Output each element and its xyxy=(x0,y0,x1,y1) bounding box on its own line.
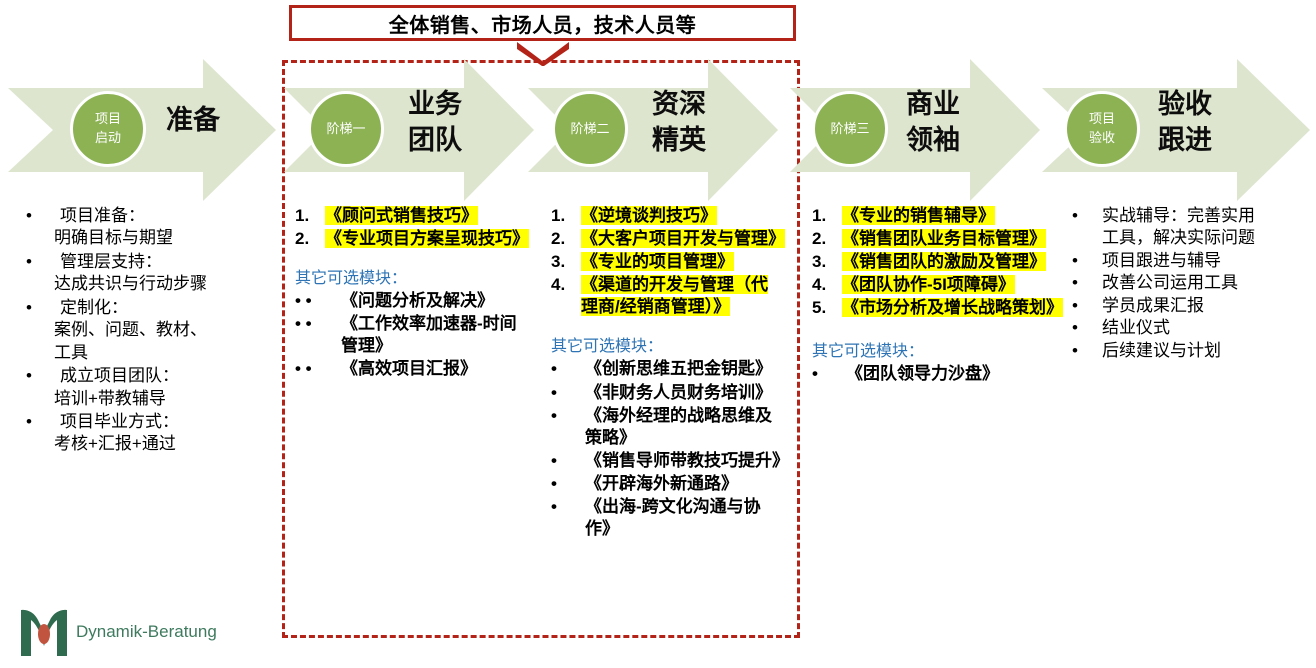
bullet-icon: • xyxy=(1072,295,1102,317)
audience-banner: 全体销售、市场人员，技术人员等 xyxy=(289,5,796,41)
stage-label-line2: 精英 xyxy=(652,123,706,159)
bullet-icon: • • xyxy=(295,290,341,312)
highlight: 《专业的项目管理》 xyxy=(581,252,734,271)
stage-arrow-band: 项目 启动 准备 阶梯一 业务 团队 xyxy=(0,55,1316,205)
list-item-text: 《大客户项目开发与管理》 xyxy=(581,228,781,250)
list-item: 2. 《销售团队业务目标管理》 xyxy=(812,228,1062,250)
bullet-icon: • xyxy=(1072,340,1102,362)
list-item: 1. 《逆境谈判技巧》 xyxy=(551,205,781,227)
list-item: • • 《问题分析及解决》 xyxy=(295,290,523,312)
list-item-text: 《渠道的开发与管理（代理商/经销商管理）》 xyxy=(581,274,781,318)
bullet-icon: • xyxy=(551,496,585,540)
stage-badge-line2: 启动 xyxy=(95,129,121,148)
list-item-text: 《团队协作-5I项障碍》 xyxy=(842,274,1015,296)
bullet-icon: • • xyxy=(295,313,341,357)
list-item-text: 《出海-跨文化沟通与协作》 xyxy=(585,496,781,540)
list-item-text: 《高效项目汇报》 xyxy=(341,358,477,380)
slide-canvas: 全体销售、市场人员，技术人员等 项目 启动 准备 阶梯一 xyxy=(0,0,1316,668)
stage-label: 商业 领袖 xyxy=(906,87,960,158)
stage-label-line1: 准备 xyxy=(166,103,220,139)
highlight: 《销售团队业务目标管理》 xyxy=(842,229,1046,248)
list-item: • • 《工作效率加速器-时间管理》 xyxy=(295,313,523,357)
list-item-sub: 考核+汇报+通过 xyxy=(54,433,179,455)
stage-badge-line1: 阶梯三 xyxy=(830,120,869,139)
highlight: 《逆境谈判技巧》 xyxy=(581,206,717,225)
optional-modules-heading: 其它可选模块： xyxy=(812,337,1062,361)
column-tier-two: 1. 《逆境谈判技巧》 2. 《大客户项目开发与管理》 3. 《专业的项目管理》… xyxy=(551,205,781,541)
stage-badge: 项目 启动 xyxy=(70,91,146,167)
bullet-icon: • xyxy=(812,363,846,385)
column-acceptance: • 实战辅导：完善实用 工具，解决实际问题 • 项目跟进与辅导 • 改善公司运用… xyxy=(1072,205,1312,362)
list-item-text: 《专业项目方案呈现技巧》 xyxy=(325,228,523,250)
list-item-sub: 工具，解决实际问题 xyxy=(1102,227,1255,249)
list-item-text: 《非财务人员财务培训》 xyxy=(585,382,772,404)
list-item: 1. 《专业的销售辅导》 xyxy=(812,205,1062,227)
stage-badge: 阶梯三 xyxy=(812,91,888,167)
list-item-text: 《海外经理的战略思维及策略》 xyxy=(585,405,781,449)
bullet-icon: • xyxy=(551,358,585,380)
list-item-text: 《销售团队业务目标管理》 xyxy=(842,228,1046,250)
column-tier-three: 1. 《专业的销售辅导》 2. 《销售团队业务目标管理》 3. 《销售团队的激励… xyxy=(812,205,1062,387)
list-item: • 《创新思维五把金钥匙》 xyxy=(551,358,781,380)
list-item-number: 2. xyxy=(295,228,325,250)
list-item: • 改善公司运用工具 xyxy=(1072,272,1312,294)
list-item-text: 后续建议与计划 xyxy=(1102,340,1221,362)
list-item-text: 《团队领导力沙盘》 xyxy=(846,363,999,385)
optional-modules-heading: 其它可选模块： xyxy=(295,264,523,288)
highlight: 《专业的销售辅导》 xyxy=(842,206,995,225)
column-tier-one: 1. 《顾问式销售技巧》 2. 《专业项目方案呈现技巧》 其它可选模块： • •… xyxy=(295,205,523,382)
list-item-text: 《专业的项目管理》 xyxy=(581,251,734,273)
bullet-icon: • xyxy=(1072,317,1102,339)
list-item: 4. 《团队协作-5I项障碍》 xyxy=(812,274,1062,296)
list-item-text: 《创新思维五把金钥匙》 xyxy=(585,358,772,380)
stage-preparation[interactable]: 项目 启动 准备 xyxy=(8,55,276,205)
stage-badge-line2: 验收 xyxy=(1089,129,1115,148)
highlight: 《大客户项目开发与管理》 xyxy=(581,229,785,248)
list-item-number: 4. xyxy=(551,274,581,318)
brand-logo: Dynamik-Beratung xyxy=(18,606,217,658)
list-item: • 《团队领导力沙盘》 xyxy=(812,363,1062,385)
list-item: • 项目准备： 明确目标与期望 xyxy=(26,205,276,250)
stage-badge-line1: 项目 xyxy=(95,110,121,129)
list-item: 3. 《专业的项目管理》 xyxy=(551,251,781,273)
optional-course-list: • 《团队领导力沙盘》 xyxy=(812,363,1062,385)
stage-badge-line1: 阶梯一 xyxy=(326,120,365,139)
list-item-text: 结业仪式 xyxy=(1102,317,1170,339)
list-item: 2. 《专业项目方案呈现技巧》 xyxy=(295,228,523,250)
list-item: • 《出海-跨文化沟通与协作》 xyxy=(551,496,781,540)
list-item: 2. 《大客户项目开发与管理》 xyxy=(551,228,781,250)
list-item-text: 定制化： 案例、问题、教材、 工具 xyxy=(60,297,207,364)
list-item: • 结业仪式 xyxy=(1072,317,1312,339)
list-item-sub: 明确目标与期望 xyxy=(54,227,173,249)
list-item: 5. 《市场分析及增长战略策划》 xyxy=(812,297,1062,319)
bullet-icon: • xyxy=(551,473,585,495)
dynamik-m-logo-icon xyxy=(18,606,70,658)
list-item-text: 《问题分析及解决》 xyxy=(341,290,494,312)
list-item-text: 《销售导师带教技巧提升》 xyxy=(585,450,781,472)
list-item-text: 成立项目团队： 培训+带教辅导 xyxy=(60,365,179,410)
list-item-sub: 培训+带教辅导 xyxy=(54,388,179,410)
stage-label-line1: 业务 xyxy=(408,87,462,123)
optional-course-list: • • 《问题分析及解决》 • • 《工作效率加速器-时间管理》 • • 《高效… xyxy=(295,290,523,380)
list-item-title: 项目准备： xyxy=(60,206,145,225)
audience-banner-text: 全体销售、市场人员，技术人员等 xyxy=(389,9,697,38)
list-item: • 定制化： 案例、问题、教材、 工具 xyxy=(26,297,276,364)
bullet-icon: • • xyxy=(295,358,341,380)
brand-logo-text: Dynamik-Beratung xyxy=(76,622,217,642)
list-item: • 后续建议与计划 xyxy=(1072,340,1312,362)
list-item: • 学员成果汇报 xyxy=(1072,295,1312,317)
highlight: 《团队协作-5I项障碍》 xyxy=(842,275,1015,294)
list-item-text: 《销售团队的激励及管理》 xyxy=(842,251,1046,273)
list-item-number: 5. xyxy=(812,297,842,319)
list-item-number: 3. xyxy=(551,251,581,273)
list-item-text: 《工作效率加速器-时间管理》 xyxy=(341,313,523,357)
stage-badge: 阶梯一 xyxy=(308,91,384,167)
list-item-number: 2. xyxy=(551,228,581,250)
list-item-sub: 达成共识与行动步骤 xyxy=(54,273,207,295)
bullet-icon: • xyxy=(551,382,585,404)
stage-label-line1: 验收 xyxy=(1158,87,1212,123)
list-item-text: 学员成果汇报 xyxy=(1102,295,1204,317)
stage-label-line1: 商业 xyxy=(906,87,960,123)
stage-tier-three[interactable]: 阶梯三 商业 领袖 xyxy=(790,55,1040,205)
list-item-title: 实战辅导：完善实用 xyxy=(1102,206,1255,225)
list-item-text: 项目跟进与辅导 xyxy=(1102,250,1221,272)
list-item: • 实战辅导：完善实用 工具，解决实际问题 xyxy=(1072,205,1312,250)
stage-label: 验收 跟进 xyxy=(1158,87,1212,158)
course-list: 1. 《专业的销售辅导》 2. 《销售团队业务目标管理》 3. 《销售团队的激励… xyxy=(812,205,1062,319)
bullet-icon: • xyxy=(551,405,585,449)
list-item-text: 《市场分析及增长战略策划》 xyxy=(842,297,1062,319)
stage-acceptance[interactable]: 项目 验收 验收 跟进 xyxy=(1042,55,1310,205)
column-preparation: • 项目准备： 明确目标与期望 • 管理层支持： 达成共识与行动步骤 • 定制化… xyxy=(26,205,276,457)
list-item: 1. 《顾问式销售技巧》 xyxy=(295,205,523,227)
list-item: • 管理层支持： 达成共识与行动步骤 xyxy=(26,251,276,296)
list-item: • 《海外经理的战略思维及策略》 xyxy=(551,405,781,449)
stage-badge: 项目 验收 xyxy=(1064,91,1140,167)
stage-label-line2: 团队 xyxy=(408,123,462,159)
stage-badge-line1: 阶梯二 xyxy=(570,120,609,139)
list-item-text: 实战辅导：完善实用 工具，解决实际问题 xyxy=(1102,205,1255,250)
list-item-text: 《专业的销售辅导》 xyxy=(842,205,995,227)
stage-label-line2: 跟进 xyxy=(1158,123,1212,159)
list-item-number: 1. xyxy=(295,205,325,227)
list-item-text: 《逆境谈判技巧》 xyxy=(581,205,717,227)
list-item-number: 1. xyxy=(551,205,581,227)
course-list: 1. 《顾问式销售技巧》 2. 《专业项目方案呈现技巧》 xyxy=(295,205,523,250)
stage-label: 准备 xyxy=(166,103,220,139)
stage-badge-line1: 项目 xyxy=(1089,110,1115,129)
list-item-title: 定制化： xyxy=(60,298,128,317)
list-item: • 《销售导师带教技巧提升》 xyxy=(551,450,781,472)
highlight: 《顾问式销售技巧》 xyxy=(325,206,478,225)
bullet-icon: • xyxy=(1072,205,1102,250)
list-item-text: 项目毕业方式： 考核+汇报+通过 xyxy=(60,411,179,456)
list-item: • 《开辟海外新通路》 xyxy=(551,473,781,495)
stage-label-line2: 领袖 xyxy=(906,123,960,159)
highlight: 《销售团队的激励及管理》 xyxy=(842,252,1046,271)
list-item-sub: 案例、问题、教材、 工具 xyxy=(54,319,207,364)
list-item-title: 成立项目团队： xyxy=(60,366,179,385)
list-item-title: 项目毕业方式： xyxy=(60,412,179,431)
stage-label: 资深 精英 xyxy=(652,87,706,158)
list-item-title: 管理层支持： xyxy=(60,252,162,271)
stage-tier-two[interactable]: 阶梯二 资深 精英 xyxy=(528,55,778,205)
list-item: • • 《高效项目汇报》 xyxy=(295,358,523,380)
bullet-icon: • xyxy=(1072,272,1102,294)
list-item: 4. 《渠道的开发与管理（代理商/经销商管理）》 xyxy=(551,274,781,318)
highlight: 《市场分析及增长战略策划》 xyxy=(842,298,1063,317)
list-item-text: 《开辟海外新通路》 xyxy=(585,473,738,495)
bullet-icon: • xyxy=(551,450,585,472)
list-item: • 《非财务人员财务培训》 xyxy=(551,382,781,404)
list-item: 3. 《销售团队的激励及管理》 xyxy=(812,251,1062,273)
list-item: • 成立项目团队： 培训+带教辅导 xyxy=(26,365,276,410)
highlight: 《专业项目方案呈现技巧》 xyxy=(325,229,529,248)
list-item-text: 管理层支持： 达成共识与行动步骤 xyxy=(60,251,207,296)
course-list: 1. 《逆境谈判技巧》 2. 《大客户项目开发与管理》 3. 《专业的项目管理》… xyxy=(551,205,781,318)
optional-modules-heading: 其它可选模块： xyxy=(551,332,781,356)
stage-label: 业务 团队 xyxy=(408,87,462,158)
list-item-number: 3. xyxy=(812,251,842,273)
stage-badge: 阶梯二 xyxy=(552,91,628,167)
list-item-text: 项目准备： 明确目标与期望 xyxy=(60,205,173,250)
optional-course-list: • 《创新思维五把金钥匙》 • 《非财务人员财务培训》 • 《海外经理的战略思维… xyxy=(551,358,781,540)
stage-tier-one[interactable]: 阶梯一 业务 团队 xyxy=(284,55,534,205)
stage-label-line1: 资深 xyxy=(652,87,706,123)
bullet-icon: • xyxy=(1072,250,1102,272)
list-item-number: 4. xyxy=(812,274,842,296)
list-item-text: 改善公司运用工具 xyxy=(1102,272,1238,294)
list-item: • 项目跟进与辅导 xyxy=(1072,250,1312,272)
list-item-text: 《顾问式销售技巧》 xyxy=(325,205,478,227)
list-item-number: 2. xyxy=(812,228,842,250)
highlight: 《渠道的开发与管理（代理商/经销商管理）》 xyxy=(581,275,768,316)
list-item-number: 1. xyxy=(812,205,842,227)
list-item: • 项目毕业方式： 考核+汇报+通过 xyxy=(26,411,276,456)
